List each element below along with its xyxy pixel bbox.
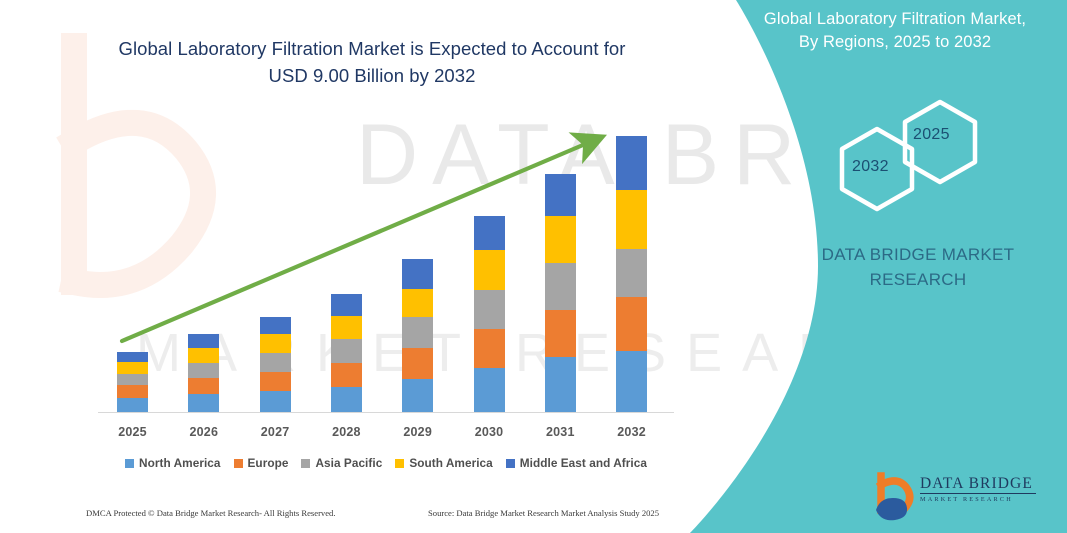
chart-x-axis-label: 2025 [98, 425, 168, 439]
chart-bar-segment [260, 372, 291, 391]
chart-bar-segment [117, 374, 148, 385]
footer-source: Source: Data Bridge Market Research Mark… [428, 508, 659, 518]
chart-bar-segment [260, 334, 291, 353]
chart-bar-segment [331, 339, 362, 363]
chart-bar-segment [545, 174, 576, 216]
legend-label: Middle East and Africa [520, 456, 647, 470]
chart-bar [188, 334, 219, 412]
chart-bar-segment [616, 136, 647, 190]
chart-bar [331, 294, 362, 412]
legend-item[interactable]: Middle East and Africa [506, 456, 647, 470]
hexagon-year-badges: 2032 2025 [820, 96, 1010, 216]
legend-item[interactable]: Europe [234, 456, 289, 470]
chart-bar-segment [402, 259, 433, 289]
legend-swatch-icon [234, 459, 243, 468]
chart-bar-segment [402, 317, 433, 348]
chart-x-axis-label: 2032 [597, 425, 667, 439]
chart-bar-segment [117, 385, 148, 398]
chart-bar-segment [117, 398, 148, 412]
chart-bar-segment [474, 250, 505, 290]
hexagon-label-2025: 2025 [913, 126, 950, 144]
chart-bar-segment [474, 216, 505, 250]
hexagon-outlines-icon [820, 96, 1010, 216]
chart-bar-segment [117, 352, 148, 362]
chart-bar-segment [545, 310, 576, 357]
right-panel-brand-line2: RESEARCH [768, 268, 1067, 293]
chart-bar-segment [188, 378, 219, 394]
legend-label: South America [409, 456, 492, 470]
chart-bar-segment [545, 216, 576, 263]
right-panel-title-line2: By Regions, 2025 to 2032 [735, 31, 1055, 54]
data-bridge-logo-text: DATA BRIDGE MARKET RESEARCH [920, 475, 1040, 503]
chart-bar-segment [331, 294, 362, 316]
legend-label: Asia Pacific [315, 456, 382, 470]
chart-bar-segment [188, 394, 219, 412]
chart-bar-segment [474, 368, 505, 412]
data-bridge-logo-main: DATA BRIDGE [920, 475, 1040, 492]
legend-item[interactable]: Asia Pacific [301, 456, 382, 470]
chart-x-axis-label: 2029 [383, 425, 453, 439]
chart-bar-segment [188, 348, 219, 363]
chart-bar-segment [331, 363, 362, 387]
chart-baseline-axis [98, 412, 674, 413]
chart-legend: North AmericaEuropeAsia PacificSouth Ame… [98, 456, 674, 470]
legend-label: North America [139, 456, 221, 470]
legend-swatch-icon [301, 459, 310, 468]
chart-bar-segment [117, 362, 148, 374]
chart-bar [616, 136, 647, 412]
chart-bar-segment [260, 317, 291, 334]
right-panel-title: Global Laboratory Filtration Market, By … [735, 8, 1055, 55]
legend-swatch-icon [506, 459, 515, 468]
data-bridge-logo: DATA BRIDGE MARKET RESEARCH [872, 472, 1032, 524]
chart-bar-segment [402, 289, 433, 317]
chart-bar [117, 352, 148, 412]
chart-x-axis-label: 2027 [240, 425, 310, 439]
chart-bar-segment [331, 387, 362, 412]
chart-bar-segment [545, 357, 576, 412]
hexagon-label-2032: 2032 [852, 158, 889, 176]
footer-copyright: DMCA Protected © Data Bridge Market Rese… [86, 508, 336, 518]
chart-bar-segment [616, 190, 647, 249]
data-bridge-mark-icon [872, 472, 918, 522]
chart-x-axis-label: 2030 [454, 425, 524, 439]
chart-bar [545, 174, 576, 412]
chart-bar-segment [474, 329, 505, 368]
right-panel-title-line1: Global Laboratory Filtration Market, [735, 8, 1055, 31]
chart-bar-segment [474, 290, 505, 329]
right-panel-brand-line1: DATA BRIDGE MARKET [768, 243, 1067, 268]
stacked-bar-chart: 20252026202720282029203020312032 [0, 0, 700, 500]
chart-bar-segment [616, 297, 647, 351]
chart-bar-segment [331, 316, 362, 339]
chart-bar-segment [616, 351, 647, 412]
legend-swatch-icon [125, 459, 134, 468]
chart-bar-segment [402, 348, 433, 379]
chart-bar [474, 216, 505, 412]
chart-bar-segment [260, 353, 291, 372]
legend-label: Europe [248, 456, 289, 470]
chart-x-axis-label: 2028 [311, 425, 381, 439]
chart-bar-segment [616, 249, 647, 297]
chart-bar [260, 317, 291, 412]
chart-bar-segment [188, 334, 219, 348]
legend-swatch-icon [395, 459, 404, 468]
chart-bar-segment [545, 263, 576, 310]
legend-item[interactable]: South America [395, 456, 492, 470]
infographic-canvas: DATA BRIDGE MARKET RESEARCH Global Labor… [0, 0, 1067, 533]
chart-bar-segment [402, 379, 433, 412]
data-bridge-logo-sub: MARKET RESEARCH [920, 496, 1040, 503]
legend-item[interactable]: North America [125, 456, 221, 470]
chart-bar-segment [188, 363, 219, 378]
chart-x-axis-label: 2026 [169, 425, 239, 439]
chart-bar [402, 259, 433, 412]
chart-bar-segment [260, 391, 291, 412]
chart-x-axis-label: 2031 [525, 425, 595, 439]
data-bridge-logo-rule [920, 493, 1036, 494]
right-panel-brand: DATA BRIDGE MARKET RESEARCH [768, 243, 1067, 292]
